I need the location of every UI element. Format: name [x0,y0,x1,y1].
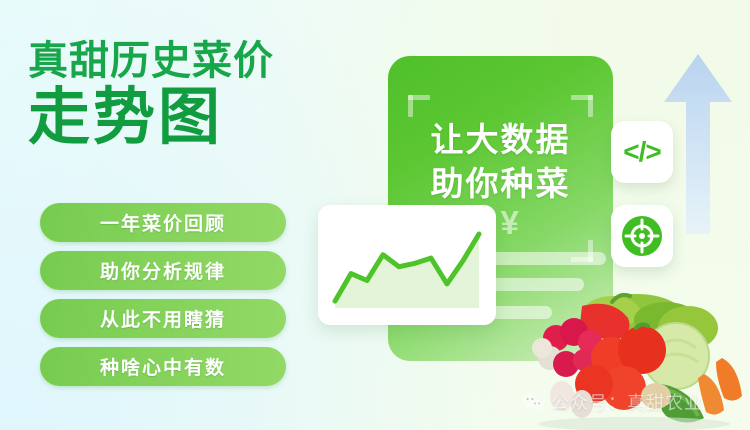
wechat-icon [522,393,544,412]
feature-pill-list: 一年菜价回顾 助你分析规律 从此不用瞎猜 种啥心中有数 [40,203,286,395]
data-card-title: 让大数据 助你种菜 [388,118,613,205]
feature-pill[interactable]: 一年菜价回顾 [40,203,286,242]
watermark: 公众号：真甜农业 [522,389,703,415]
feature-pill-label: 从此不用瞎猜 [100,305,226,332]
code-icon-card[interactable]: </> [611,121,673,183]
watermark-text: 公众号：真甜农业 [551,389,703,415]
target-icon-card[interactable] [611,205,673,267]
feature-pill[interactable]: 从此不用瞎猜 [40,299,286,338]
page-title: 真甜历史菜价 走势图 [28,40,328,150]
code-icon: </> [623,136,660,168]
data-card-title-line-1: 让大数据 [388,118,613,162]
corner-bracket-top-left [408,95,430,117]
feature-pill-label: 助你分析规律 [100,257,226,284]
target-icon [621,215,663,257]
feature-pill[interactable]: 助你分析规律 [40,251,286,290]
poster-root: 真甜历史菜价 走势图 一年菜价回顾 助你分析规律 从此不用瞎猜 种啥心中有数 让… [0,0,750,430]
corner-bracket-top-right [571,95,593,117]
feature-pill-label: 一年菜价回顾 [100,209,226,236]
title-line-1: 真甜历史菜价 [28,40,328,83]
feature-pill[interactable]: 种啥心中有数 [40,347,286,386]
title-line-2: 走势图 [28,85,328,150]
data-card-title-line-2: 助你种菜 [388,162,613,206]
feature-pill-label: 种啥心中有数 [100,353,226,380]
price-trend-chart [330,217,484,313]
price-trend-chart-card [318,205,496,325]
